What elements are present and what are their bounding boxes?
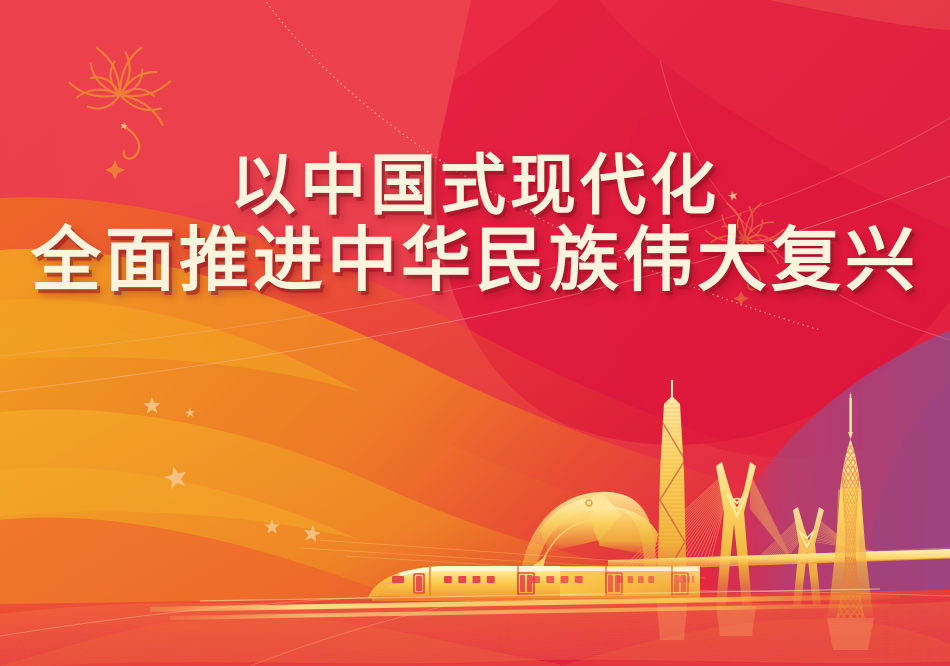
decorative-star <box>264 519 279 534</box>
decorative-star <box>143 397 160 414</box>
decorative-star <box>727 190 738 201</box>
decorative-star <box>162 464 189 490</box>
fireworks-group <box>69 48 784 307</box>
decorative-star <box>302 524 321 543</box>
stars-group <box>120 121 739 542</box>
decoration-layer <box>0 0 950 666</box>
decorative-star <box>185 408 195 418</box>
firework-behind-title <box>706 203 785 306</box>
poster-root: 以中国式现代化 全面推进中华民族伟大复兴 <box>0 0 950 666</box>
firework-top-left <box>69 48 170 180</box>
